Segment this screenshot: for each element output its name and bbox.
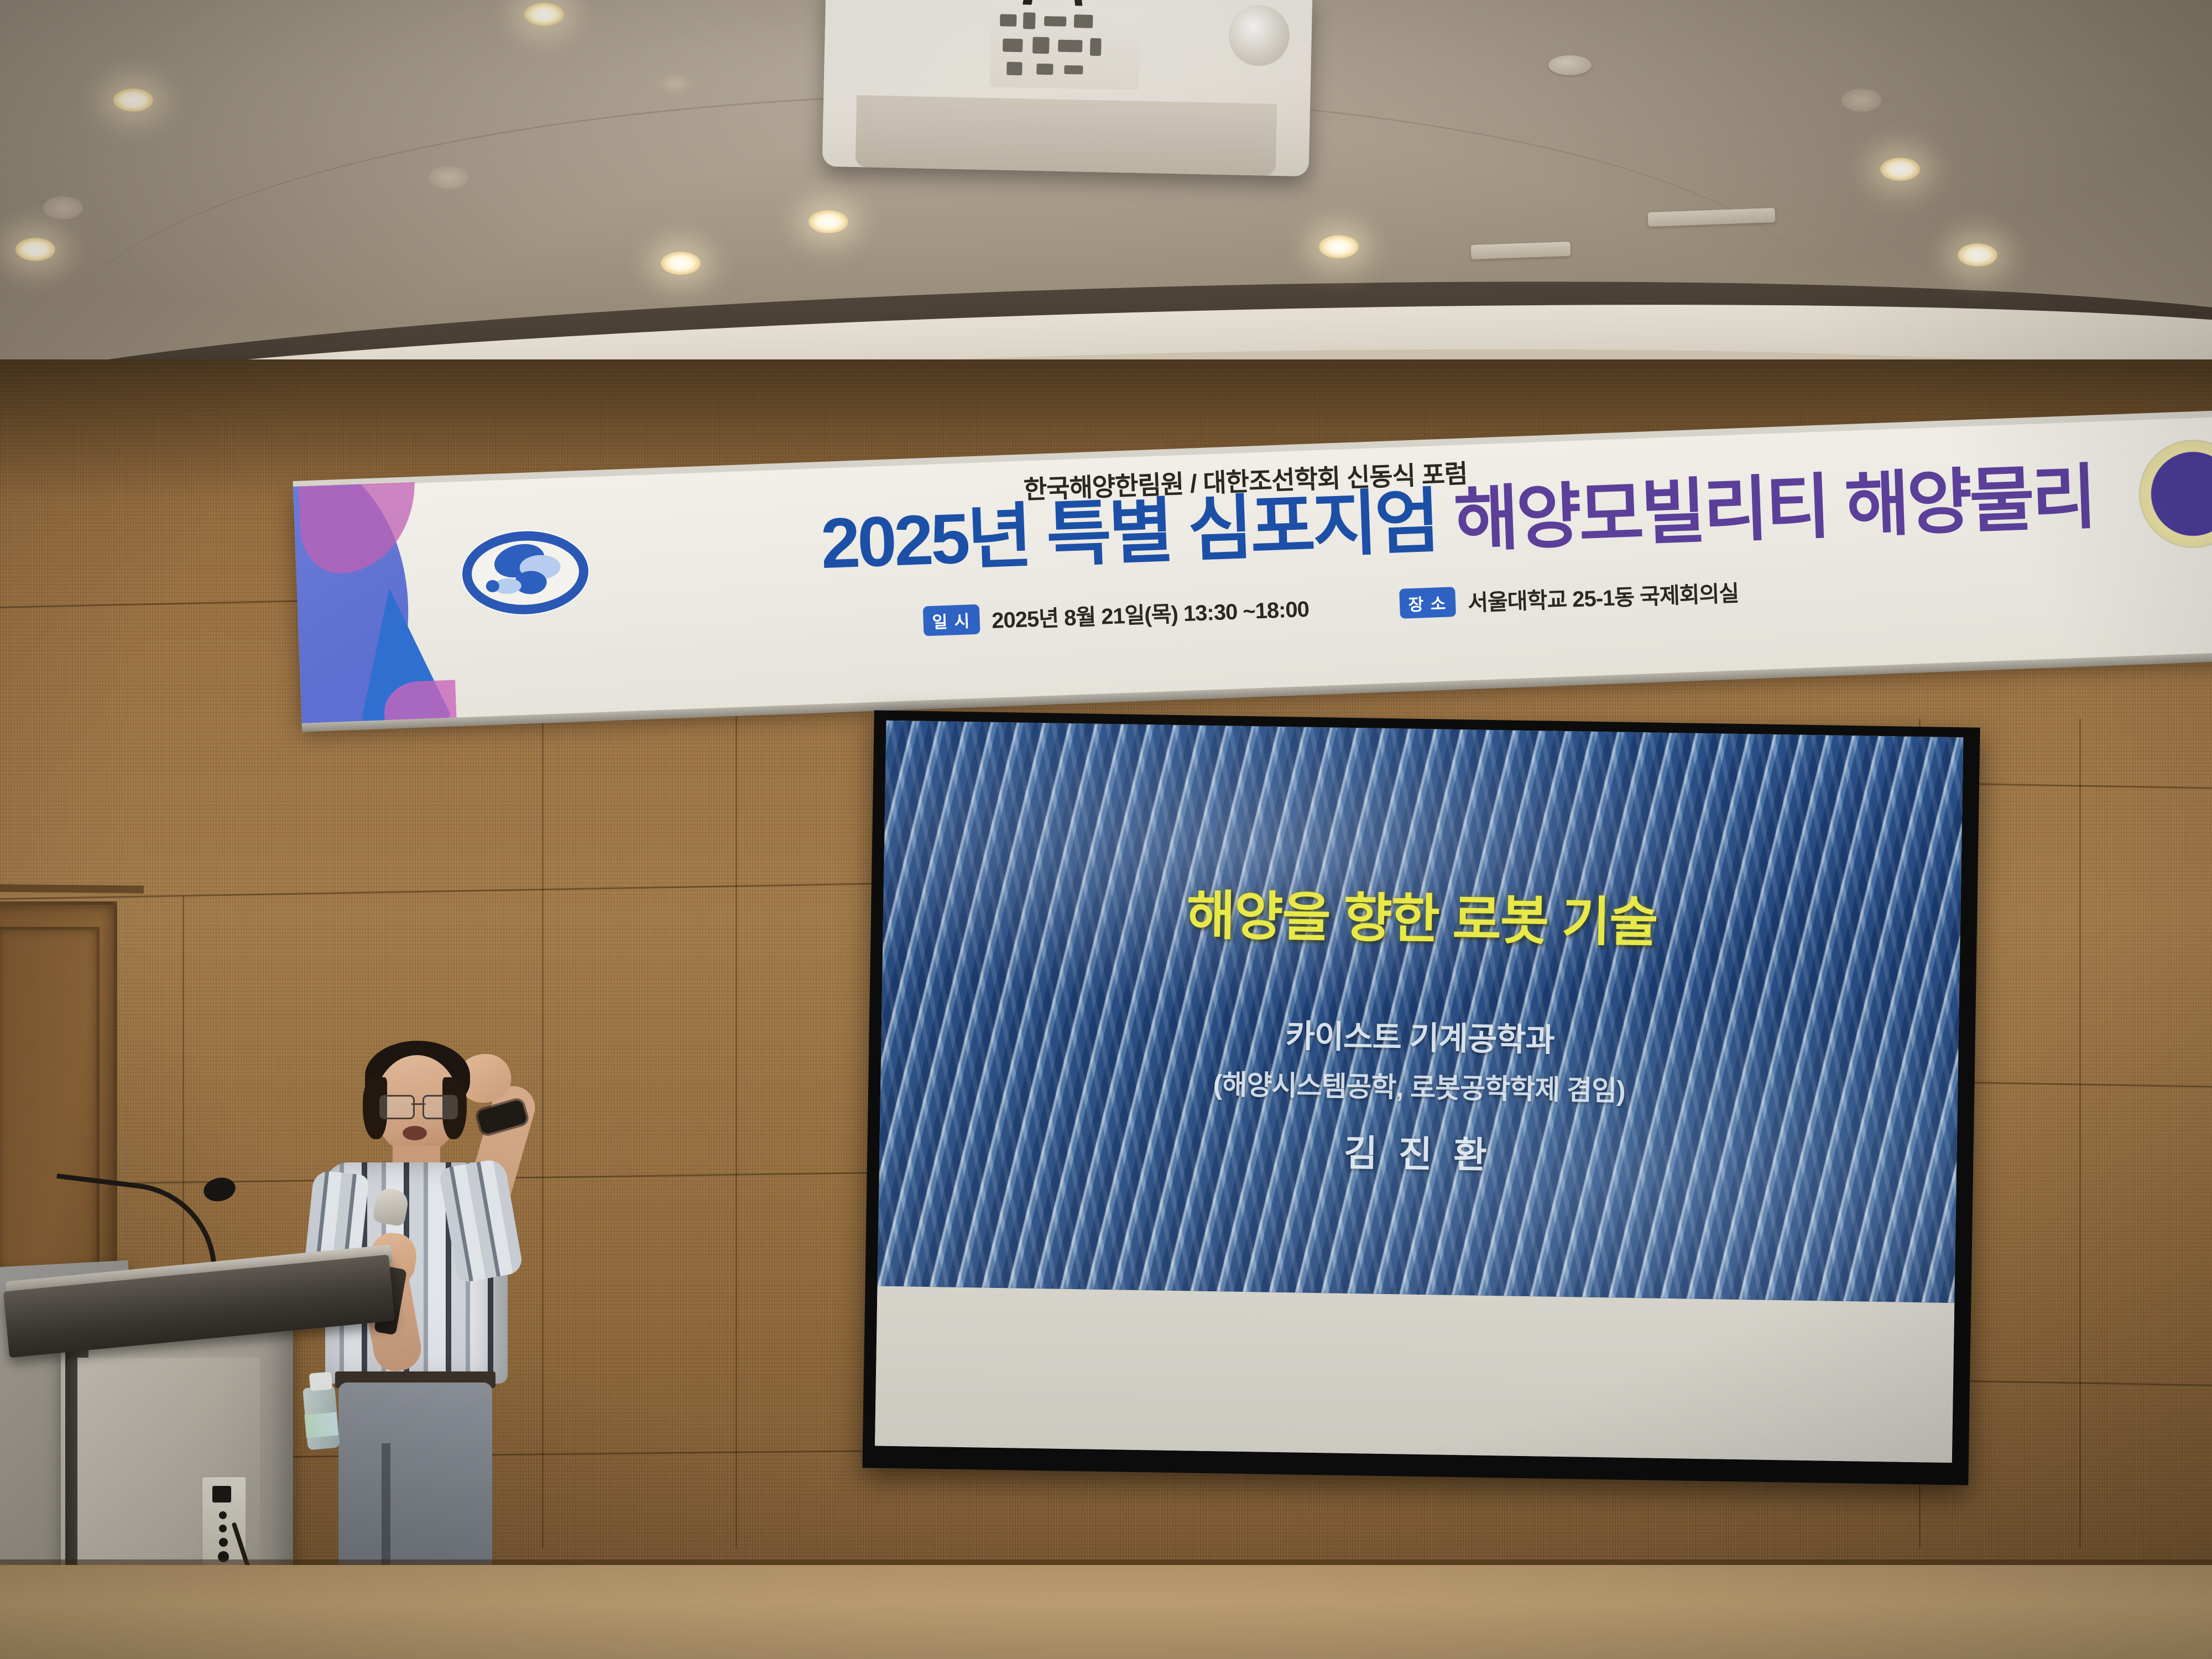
eyeglass-lens xyxy=(379,1095,415,1119)
banner-title-year: 2025년 xyxy=(820,496,1048,583)
ceiling-downlight-off xyxy=(655,72,695,95)
projector-port xyxy=(1044,16,1066,27)
photo-scene: 2021 한국해양한림원 / 대한조선학회 신동식 포럼 2025년 특별 심포… xyxy=(0,0,2212,1659)
ceiling-downlight xyxy=(524,3,564,26)
presentation-slide: 해양을 향한 로봇 기술 카이스트 기계공학과 (해양시스템공학, 로봇공학학제… xyxy=(878,721,1964,1303)
banner-title-blue: 특별 심포지엄 xyxy=(1045,481,1455,575)
projector-port xyxy=(1000,14,1016,27)
projector-port xyxy=(1032,37,1050,54)
projector-port xyxy=(1074,14,1093,28)
kams-logo: 2021 xyxy=(461,529,589,617)
banner-wave-graphic xyxy=(293,481,468,724)
projector-port xyxy=(1090,38,1102,56)
speaker-mouth xyxy=(403,1126,427,1140)
projector-body xyxy=(855,95,1277,176)
control-button[interactable] xyxy=(212,1486,231,1503)
projection-screen: 해양을 향한 로봇 기술 카이스트 기계공학과 (해양시스템공학, 로봇공학학제… xyxy=(862,710,1980,1485)
projector-port xyxy=(1023,12,1036,29)
wall-vertical-seam xyxy=(542,719,544,1548)
projector-port xyxy=(1064,65,1083,75)
smoke-detector-icon xyxy=(1548,55,1592,75)
ceiling-downlight-off xyxy=(43,196,83,220)
ceiling-downlight xyxy=(661,252,701,275)
place-text: 서울대학교 25-1동 국제회의실 xyxy=(1467,575,1739,617)
eyeglass-lens xyxy=(422,1095,458,1119)
door-frame xyxy=(0,884,144,893)
projector-port xyxy=(1006,62,1022,76)
wall-vertical-seam xyxy=(735,708,737,1548)
ceiling-projector xyxy=(822,0,1313,176)
podium-control-panel[interactable] xyxy=(202,1477,246,1572)
ceiling-downlight xyxy=(808,210,848,233)
screen-blank-area xyxy=(875,1286,1954,1463)
ceiling-downlight xyxy=(1880,158,1920,181)
wall-vertical-seam xyxy=(2079,719,2081,1548)
stage-floor xyxy=(0,1565,2212,1659)
ceiling-downlight-off xyxy=(1841,88,1881,112)
projector-port xyxy=(1036,64,1053,75)
control-button[interactable] xyxy=(219,1538,228,1547)
date-text: 2025년 8월 21일(목) 13:30 ~18:00 xyxy=(991,591,1310,635)
projector-vent-grille xyxy=(846,0,975,92)
projector-port xyxy=(1058,40,1082,53)
projector-port-panel xyxy=(990,4,1141,90)
ceiling-downlight-off xyxy=(429,166,468,189)
projector-port xyxy=(1003,39,1022,53)
control-button[interactable] xyxy=(219,1525,227,1532)
projector-lens xyxy=(1228,4,1290,66)
water-bottle-label xyxy=(304,1412,338,1438)
control-button[interactable] xyxy=(219,1511,227,1519)
ceiling-downlight xyxy=(15,238,55,261)
projection-screen-surface: 해양을 향한 로봇 기술 카이스트 기계공학과 (해양시스템공학, 로봇공학학제… xyxy=(875,721,1963,1463)
date-chip-label: 일 시 xyxy=(923,604,980,637)
banner-meta-row: 일 시 2025년 8월 21일(목) 13:30 ~18:00 장 소 서울대… xyxy=(923,575,1739,637)
ceiling-downlight xyxy=(113,88,153,112)
water-bottle-cap xyxy=(309,1371,333,1391)
ceiling-downlight xyxy=(1958,243,1997,267)
place-chip-label: 장 소 xyxy=(1399,587,1456,619)
ceiling-downlight xyxy=(1319,235,1359,258)
snak-seal xyxy=(2138,440,2212,549)
banner-title-purple: 해양모빌리티 해양물리 xyxy=(1453,458,2096,560)
eyeglasses-icon xyxy=(379,1095,458,1116)
